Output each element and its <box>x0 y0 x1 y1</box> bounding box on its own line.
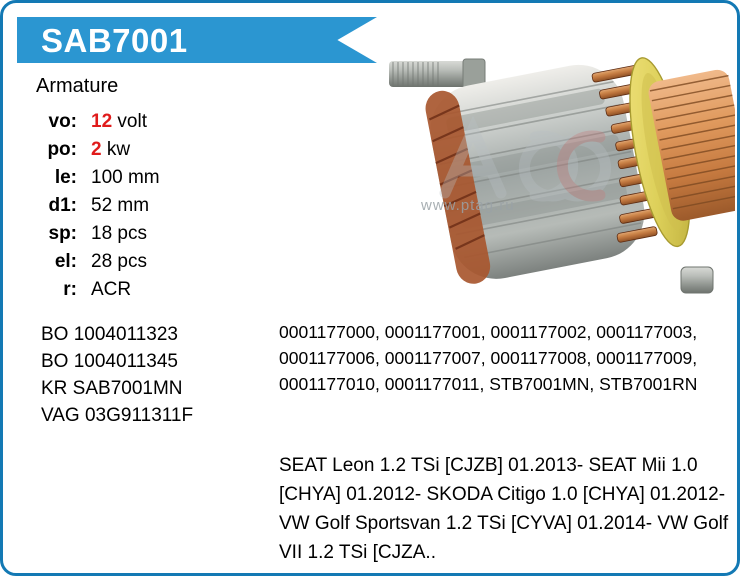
spec-value: 52 mm <box>91 195 160 223</box>
spec-unit: volt <box>117 111 147 132</box>
spec-unit: mm <box>117 195 149 216</box>
table-row: po: 2 kw <box>39 139 160 167</box>
spec-value: 100 mm <box>91 167 160 195</box>
spec-key: vo: <box>39 111 91 139</box>
spec-value: ACR <box>91 279 160 307</box>
spec-number: 28 <box>91 251 112 272</box>
product-type-label: Armature <box>36 75 118 98</box>
table-row: le: 100 mm <box>39 167 160 195</box>
vehicle-applications-text: SEAT Leon 1.2 TSi [CJZB] 01.2013- SEAT M… <box>279 451 731 567</box>
cross-reference-list: BO 1004011323 BO 1004011345 KR SAB7001MN… <box>41 321 193 429</box>
spec-value: 28 pcs <box>91 251 160 279</box>
table-row: el: 28 pcs <box>39 251 160 279</box>
table-row: r: ACR <box>39 279 160 307</box>
spec-key: el: <box>39 251 91 279</box>
spec-value: 18 pcs <box>91 223 160 251</box>
spec-key: sp: <box>39 223 91 251</box>
spec-key: po: <box>39 139 91 167</box>
list-item: KR SAB7001MN <box>41 375 193 402</box>
spec-number: 12 <box>91 111 112 132</box>
shaft-stub <box>681 267 713 293</box>
product-code-ribbon: SAB7001 <box>17 17 377 63</box>
product-photo: www.ptag.ru <box>363 49 735 317</box>
spec-key: le: <box>39 167 91 195</box>
table-row: sp: 18 pcs <box>39 223 160 251</box>
spec-number: ACR <box>91 279 131 300</box>
spec-number: 100 <box>91 167 123 188</box>
spec-number: 18 <box>91 223 112 244</box>
spec-number: 52 <box>91 195 112 216</box>
specifications-table: vo: 12 volt po: 2 kw le: 100 mm d1: 52 m… <box>39 111 160 307</box>
oem-numbers-text: 0001177000, 0001177001, 0001177002, 0001… <box>279 319 725 397</box>
product-card: SAB7001 Armature vo: 12 volt po: 2 kw le… <box>0 0 740 576</box>
spec-key: r: <box>39 279 91 307</box>
spec-key: d1: <box>39 195 91 223</box>
armature-illustration <box>363 49 735 317</box>
list-item: BO 1004011323 <box>41 321 193 348</box>
list-item: BO 1004011345 <box>41 348 193 375</box>
spec-unit: pcs <box>117 223 147 244</box>
spec-value: 12 volt <box>91 111 160 139</box>
list-item: VAG 03G911311F <box>41 402 193 429</box>
table-row: vo: 12 volt <box>39 111 160 139</box>
spec-unit: pcs <box>117 251 147 272</box>
spec-value: 2 kw <box>91 139 160 167</box>
spec-unit: kw <box>107 139 130 160</box>
spec-unit: mm <box>128 167 160 188</box>
spec-number: 2 <box>91 139 102 160</box>
page-title: SAB7001 <box>17 24 188 57</box>
table-row: d1: 52 mm <box>39 195 160 223</box>
